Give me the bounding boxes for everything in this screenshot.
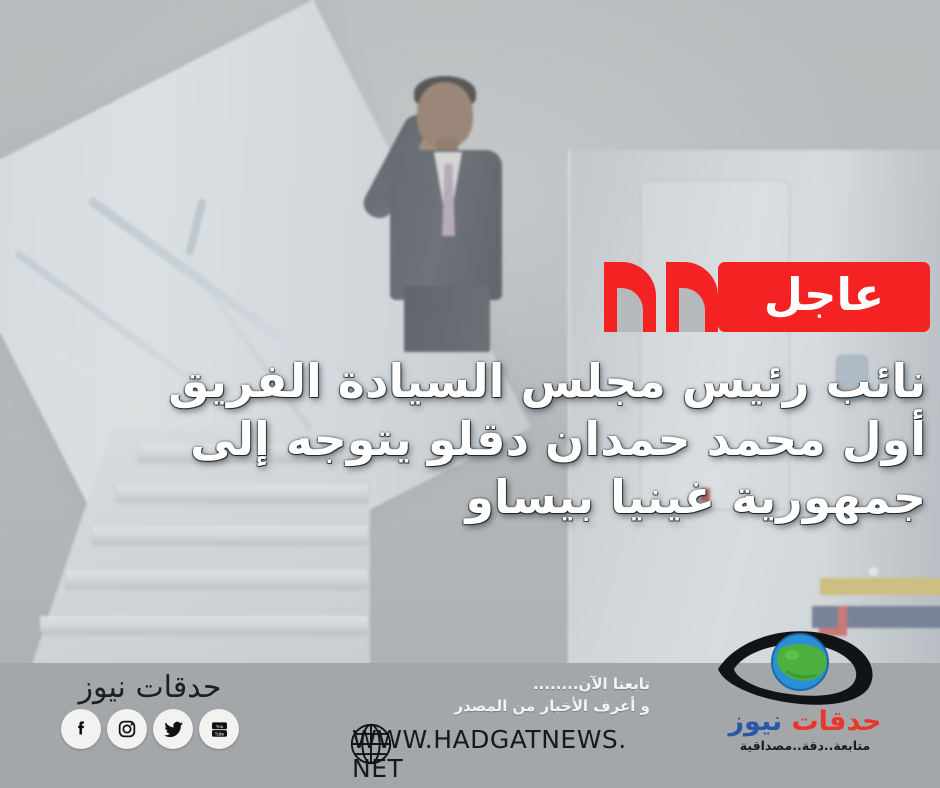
breaking-label-box: عاجل — [718, 262, 930, 332]
stair-step — [92, 526, 368, 543]
follow-line-2: و أعرف الأخبار من المصدر — [330, 695, 650, 717]
stair-step — [66, 570, 368, 587]
twitter-icon[interactable] — [153, 709, 193, 749]
website-row[interactable]: WWW.HADGATNEWS. NET — [330, 725, 650, 783]
facebook-icon[interactable] — [61, 709, 101, 749]
logo-wordmark: حدقات نيوز متابعة..دقة..مصداقية — [680, 707, 930, 753]
breaking-label: عاجل — [764, 272, 884, 317]
logo-name: حدقات نيوز — [680, 707, 930, 737]
footer-bar: حدقات نيوز — [0, 663, 940, 788]
globe-icon — [348, 721, 394, 767]
deco-shape-right — [666, 262, 718, 332]
news-card: عاجل نائب رئيس مجلس السيادة الفريق أول م… — [0, 0, 940, 788]
stair-step — [40, 616, 368, 633]
svg-text:Tube: Tube — [214, 731, 224, 736]
footer-brand-block: حدقات نيوز — [20, 671, 280, 749]
headline-line-3: جمهورية غينيا بيساو — [14, 468, 926, 526]
deco-shape-left — [604, 262, 656, 332]
youtube-icon[interactable]: You Tube — [199, 709, 239, 749]
headline: نائب رئيس مجلس السيادة الفريق أول محمد ح… — [14, 352, 926, 526]
person-waving — [352, 38, 542, 338]
fuselage-rivet — [869, 567, 878, 576]
hero-photo — [0, 0, 940, 665]
breaking-decoration — [590, 262, 718, 332]
headline-line-2: أول محمد حمدان دقلو يتوجه إلى — [14, 410, 926, 468]
breaking-news-badge: عاجل — [590, 262, 930, 332]
social-links: You Tube — [20, 709, 280, 749]
livery-stripe-yellow — [820, 578, 940, 595]
footer-brand-name: حدقات نيوز — [20, 671, 280, 705]
instagram-icon[interactable] — [107, 709, 147, 749]
footer-follow-block: تابعنا الآن........ و أعرف الأخبار من ال… — [330, 673, 650, 783]
person-trousers — [404, 286, 490, 352]
channel-logo: حدقات نيوز متابعة..دقة..مصداقية — [680, 619, 930, 787]
follow-line-1: تابعنا الآن........ — [330, 673, 650, 695]
eye-with-globe-icon — [700, 619, 910, 711]
svg-text:You: You — [215, 723, 223, 728]
headline-line-1: نائب رئيس مجلس السيادة الفريق — [14, 352, 926, 410]
logo-tagline: متابعة..دقة..مصداقية — [680, 738, 930, 753]
